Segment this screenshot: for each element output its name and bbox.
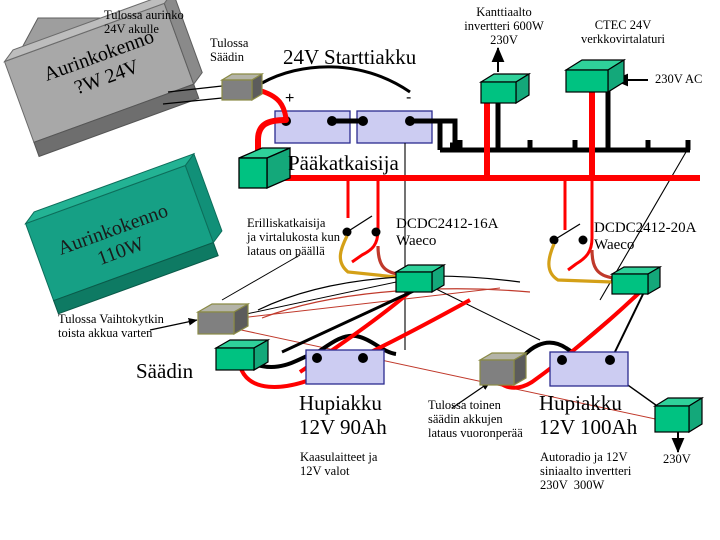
charger-ctec-shape — [566, 60, 624, 92]
battery-90ah-shape — [306, 350, 384, 384]
second-regulator-gray-shape — [480, 353, 526, 385]
label-battery-100ah-loads: Autoradio ja 12V siniaalto invertteri 23… — [540, 450, 631, 492]
label-regulator: Säädin — [136, 360, 193, 384]
switch-symbol-right — [550, 224, 588, 245]
label-dcdc-16a: DCDC2412-16A Waeco — [396, 216, 499, 250]
dcdc-20a-shape — [612, 267, 660, 294]
label-dcdc-20a: DCDC2412-20A Waeco — [594, 220, 697, 254]
note-second-regulator: Tulossa toinen säädin akkujen lataus vuo… — [428, 398, 523, 440]
switch-symbol-left — [343, 216, 381, 237]
solar-panel-green-shape — [23, 154, 230, 314]
label-inverter-600w: Kanttiaalto invertteri 600W 230V — [458, 5, 550, 47]
dcdc-16a-shape — [396, 265, 444, 292]
changeover-switch-gray-shape — [198, 304, 248, 334]
label-230v-ac-input: 230V AC — [655, 72, 702, 86]
page-title-24v-starter-battery: 24V Starttiakku — [283, 46, 416, 70]
label-230v-output: 230V — [663, 452, 691, 466]
note-changeover-switch: Tulossa Vaihtokytkin toista akkua varten — [58, 312, 164, 340]
inverter-600w-shape — [481, 74, 529, 103]
label-battery-90ah: Hupiakku 12V 90Ah — [299, 392, 387, 439]
main-breaker-shape — [239, 148, 290, 188]
inverter-230v-out-shape — [655, 398, 702, 432]
note-separate-breaker: Erilliskatkaisija ja virtalukosta kun la… — [247, 216, 340, 258]
starter-battery-24v-shape — [275, 111, 432, 143]
incoming-regulator-gray-shape — [222, 74, 262, 100]
regulator-green-shape — [216, 340, 268, 370]
label-charger-ctec: CTEC 24V verkkovirtalaturi — [569, 18, 677, 46]
note-incoming-regulator: Tulossa Säädin — [210, 36, 248, 64]
label-main-breaker: Pääkatkaisija — [288, 152, 399, 176]
note-incoming-solar-24v: Tulossa aurinko 24V akulle — [104, 8, 184, 36]
battery-minus-sign: - — [406, 89, 411, 107]
battery-100ah-shape — [550, 352, 628, 386]
label-battery-90ah-loads: Kaasulaitteet ja 12V valot — [300, 450, 377, 478]
wiring-diagram-canvas: Aurinkokenno ?W 24V Aurinkokenno 110W Tu… — [0, 0, 720, 540]
battery-plus-sign: + — [285, 90, 294, 108]
label-battery-100ah: Hupiakku 12V 100Ah — [539, 392, 637, 439]
